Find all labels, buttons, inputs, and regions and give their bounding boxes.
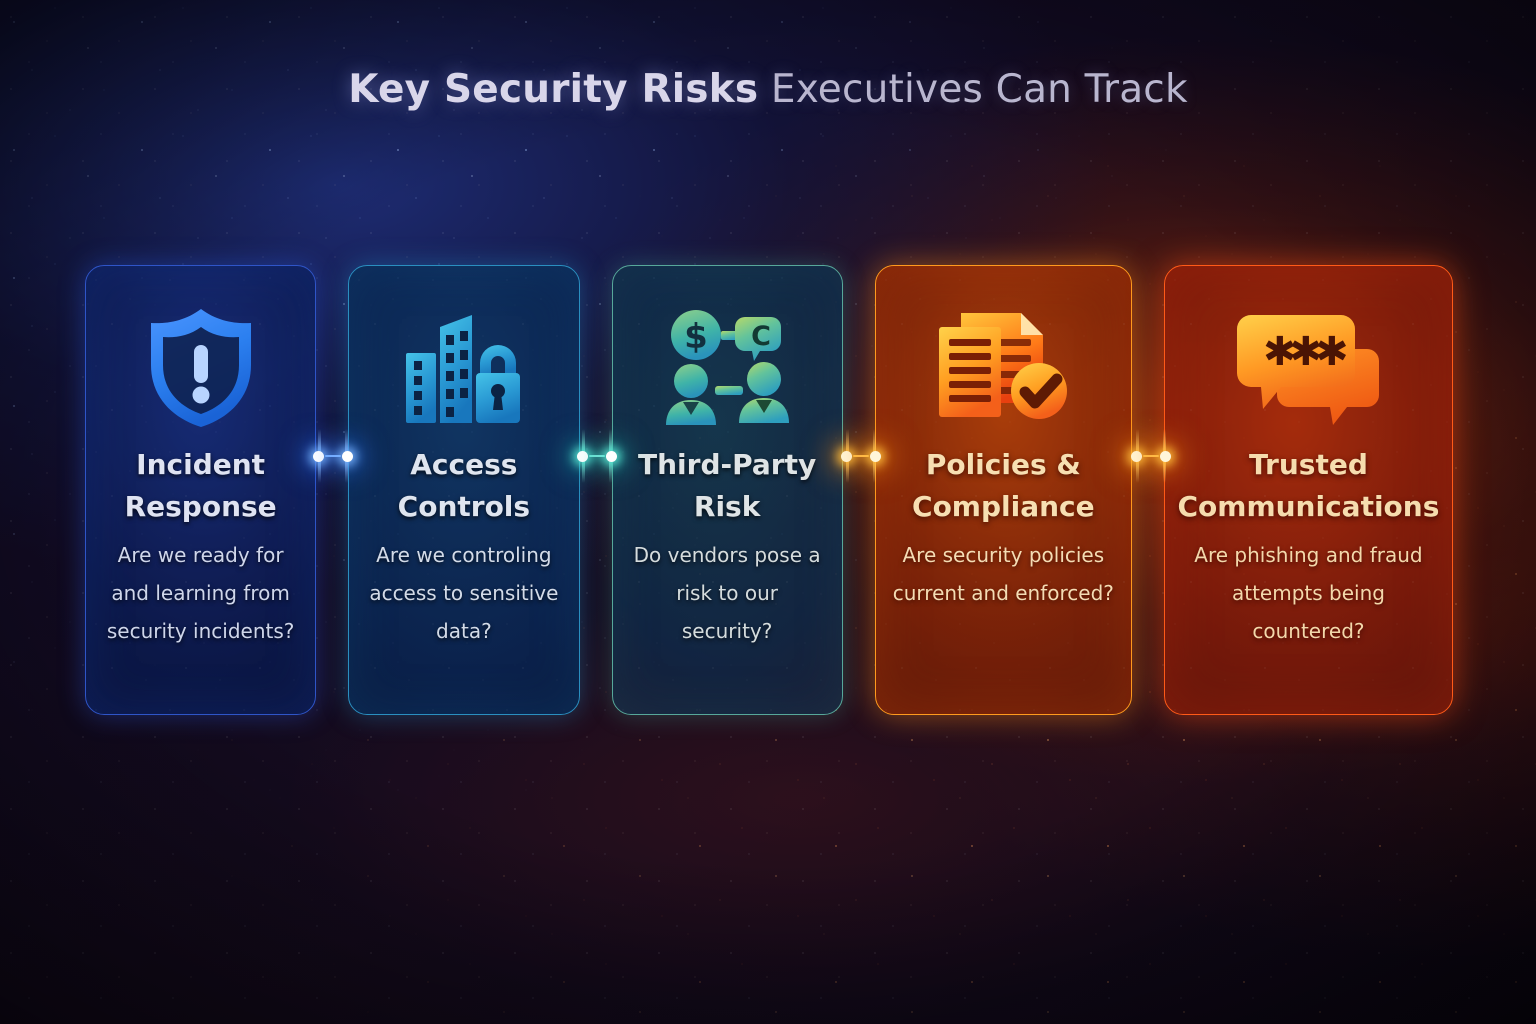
card-access-controls[interactable]: Access Controls Are we controling access… — [348, 265, 579, 715]
card-title-line-2: Risk — [694, 490, 760, 523]
card-title: Incident Response — [113, 444, 289, 528]
card-third-party-risk[interactable]: $ C T — [612, 265, 843, 715]
card-title: Policies & Compliance — [900, 444, 1107, 528]
vendor-network-icon: $ C — [613, 292, 842, 444]
card-title: Third-Party Risk — [626, 444, 828, 528]
card-title-line-1: Third-Party — [638, 448, 816, 481]
card-title: Trusted Communications — [1165, 444, 1451, 528]
page-title: Key Security Risks Executives Can Track — [0, 68, 1536, 113]
title-light-part: Executives Can Track — [758, 67, 1188, 112]
card-description: Are we ready for and learning from secur… — [86, 536, 315, 650]
card-title-line-1: Access — [410, 448, 517, 481]
card-description: Do vendors pose a risk to our security? — [613, 536, 842, 650]
card-title-line-1: Policies & — [926, 448, 1081, 481]
card-title-line-2: Response — [125, 490, 277, 523]
card-title-line-1: Incident — [136, 448, 265, 481]
card-title-line-2: Controls — [398, 490, 530, 523]
card-title: Access Controls — [386, 444, 542, 528]
title-strong-part: Key Security Risks — [348, 67, 758, 112]
card-description: Are phishing and fraud attempts being co… — [1165, 536, 1452, 650]
document-check-icon — [876, 292, 1131, 444]
risk-card-row: Incident Response Are we ready for and l… — [85, 265, 1453, 715]
card-description: Are we controling access to sensitive da… — [349, 536, 578, 650]
infographic-canvas: Key Security Risks Executives Can Track — [0, 0, 1536, 1024]
chat-asterisk-icon: ✱ ✱ ✱ — [1165, 292, 1452, 444]
shield-alert-icon — [86, 292, 315, 444]
card-policies-compliance[interactable]: Policies & Compliance Are security polic… — [875, 265, 1132, 715]
card-title-line-1: Trusted — [1249, 448, 1368, 481]
building-lock-icon — [349, 292, 578, 444]
card-trusted-communications[interactable]: ✱ ✱ ✱ Trusted Communications Are phishin… — [1164, 265, 1453, 715]
card-incident-response[interactable]: Incident Response Are we ready for and l… — [85, 265, 316, 715]
card-title-line-2: Compliance — [912, 490, 1095, 523]
svg-text:✱: ✱ — [1315, 329, 1349, 375]
card-description: Are security policies current and enforc… — [876, 536, 1131, 612]
card-title-line-2: Communications — [1177, 490, 1439, 523]
svg-text:$: $ — [684, 317, 708, 357]
svg-text:C: C — [751, 321, 771, 352]
